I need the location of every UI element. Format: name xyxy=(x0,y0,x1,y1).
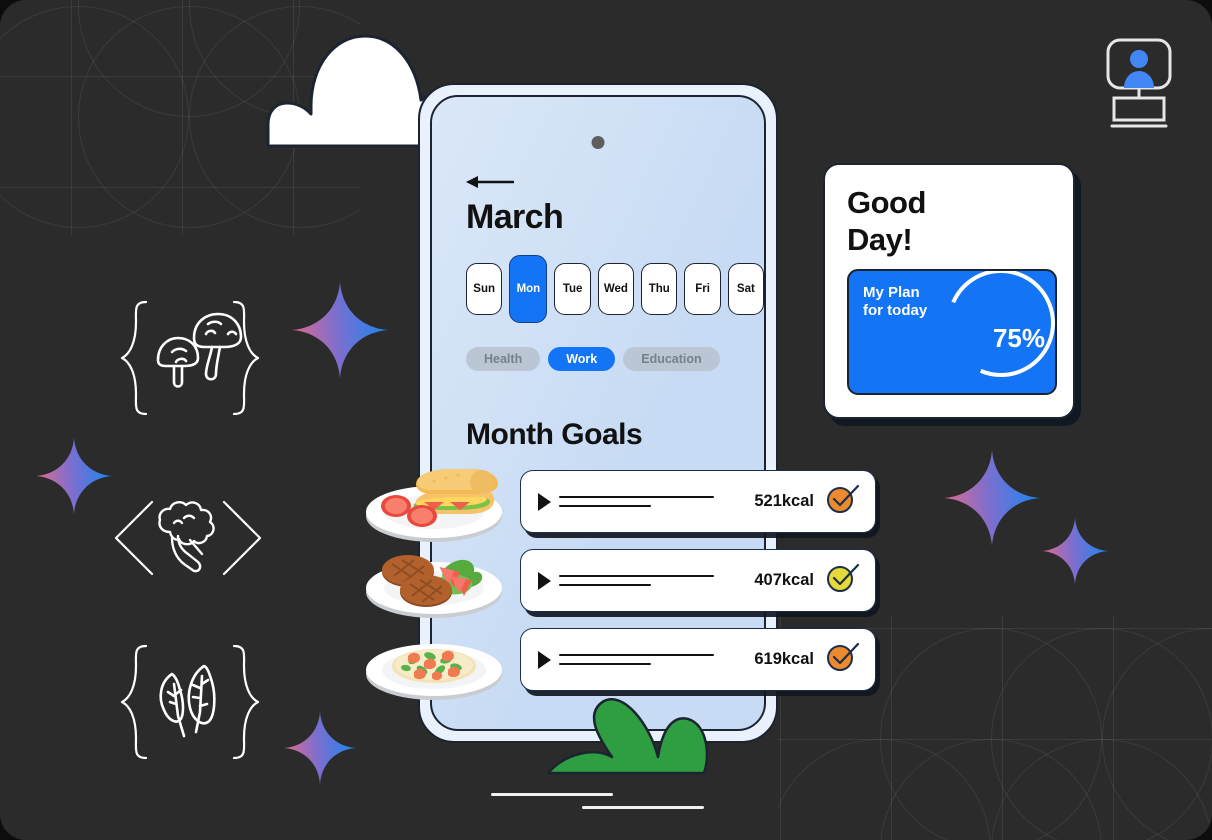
day-chip-mon[interactable]: Mon xyxy=(509,255,547,323)
goal-placeholder-lines xyxy=(559,575,754,587)
category-pill-health[interactable]: Health xyxy=(466,347,540,371)
presentation-person-icon xyxy=(1104,38,1174,133)
plant-leaves-shape xyxy=(546,695,746,782)
day-chip-sat[interactable]: Sat xyxy=(728,263,764,315)
sparkle-star-bottom-left xyxy=(284,712,356,784)
my-plan-card[interactable]: My Plan for today 75% xyxy=(847,269,1057,395)
day-chip-fri[interactable]: Fri xyxy=(684,263,720,315)
ingredient-mushrooms-group xyxy=(120,296,260,426)
ground-line-1 xyxy=(491,793,613,796)
goal-row-1[interactable]: 521kcal xyxy=(520,470,876,533)
day-chip-wed[interactable]: Wed xyxy=(598,263,634,315)
spinach-leaves-icon xyxy=(161,666,215,736)
plate-sandwich-tomato xyxy=(364,456,504,551)
sparkle-star-top-left xyxy=(292,282,388,378)
goal-placeholder-lines xyxy=(559,654,754,666)
day-chip-sun[interactable]: Sun xyxy=(466,263,502,315)
sparkle-star-right xyxy=(944,450,1040,546)
poster-canvas: March Sun Mon Tue Wed Thu Fri Sat Health… xyxy=(0,0,1212,840)
good-day-title: Good Day! xyxy=(847,185,1051,258)
check-badge-icon[interactable] xyxy=(826,563,860,598)
sparkle-star-mid-left xyxy=(36,438,112,514)
play-triangle-icon[interactable] xyxy=(538,572,551,590)
progress-percent-value: 75% xyxy=(982,323,1056,354)
category-pill-education[interactable]: Education xyxy=(623,347,719,371)
category-pill-work[interactable]: Work xyxy=(548,347,615,371)
good-day-card: Good Day! My Plan for today 75% xyxy=(823,163,1075,419)
day-chip-thu[interactable]: Thu xyxy=(641,263,677,315)
day-chip-tue[interactable]: Tue xyxy=(554,263,590,315)
goal-kcal-value: 521kcal xyxy=(754,492,814,511)
mushrooms-icon xyxy=(158,314,241,387)
check-badge-icon[interactable] xyxy=(826,642,860,677)
week-day-selector[interactable]: Sun Mon Tue Wed Thu Fri Sat xyxy=(466,263,764,323)
goal-kcal-value: 407kcal xyxy=(754,571,814,590)
category-filter-row[interactable]: Health Work Education xyxy=(466,347,764,371)
my-plan-label: My Plan for today xyxy=(863,284,927,321)
broccoli-icon xyxy=(159,502,213,571)
back-arrow-icon[interactable] xyxy=(466,175,514,189)
goal-row-3[interactable]: 619kcal xyxy=(520,628,876,691)
ingredient-spinach-group xyxy=(120,640,260,770)
section-title-month-goals: Month Goals xyxy=(466,418,764,452)
sparkle-star-far-right xyxy=(1042,518,1108,584)
ground-line-2 xyxy=(582,806,704,809)
goal-row-2[interactable]: 407kcal xyxy=(520,549,876,612)
play-triangle-icon[interactable] xyxy=(538,493,551,511)
ingredient-broccoli-group xyxy=(108,488,268,588)
goal-placeholder-lines xyxy=(559,496,754,508)
check-badge-icon[interactable] xyxy=(826,484,860,519)
plate-pasta-shrimp xyxy=(364,618,504,713)
play-triangle-icon[interactable] xyxy=(538,651,551,669)
goal-kcal-value: 619kcal xyxy=(754,650,814,669)
month-goals-list: 521kcal 407kcal 619kcal xyxy=(520,470,876,707)
page-title: March xyxy=(466,198,764,237)
